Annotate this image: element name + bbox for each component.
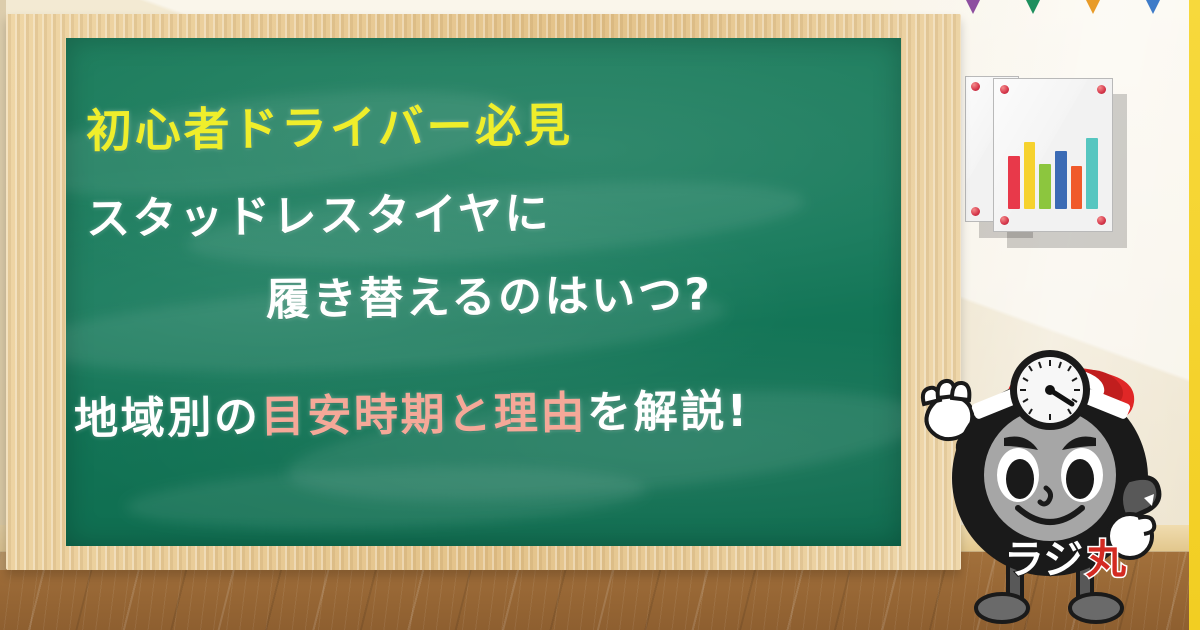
pin-icon xyxy=(1097,216,1106,225)
mascot-name-kanji: 丸 xyxy=(1085,537,1126,583)
thumbnail-canvas: 初心者ドライバー必見 スタッドレスタイヤに 履き替えるのはいつ? 地域別の目安時… xyxy=(0,0,1200,630)
mascot-name-kana: ラジ xyxy=(1004,537,1083,583)
subtitle-segment-suffix: を解説! xyxy=(587,386,750,439)
pin-icon xyxy=(1097,85,1106,94)
mascot-pressure-gauge-icon xyxy=(1010,350,1090,430)
bunting-decoration xyxy=(960,0,1200,16)
chart-bar xyxy=(1055,151,1067,209)
bunting-flag xyxy=(1086,0,1100,14)
bunting-flag xyxy=(1026,0,1040,14)
chart-bar xyxy=(1039,164,1051,209)
chart-bar xyxy=(1008,156,1020,209)
bunting-flag xyxy=(966,0,980,14)
pin-icon xyxy=(971,82,980,91)
title-line-2: 履き替えるのはいつ? xyxy=(66,254,901,331)
title-line-1: スタッドレスタイヤに xyxy=(66,173,901,247)
chalkboard-frame: 初心者ドライバー必見 スタッドレスタイヤに 履き替えるのはいつ? 地域別の目安時… xyxy=(6,14,961,570)
mascot-character: ラジ 丸 xyxy=(900,330,1200,630)
pin-icon xyxy=(1000,216,1009,225)
pin-icon xyxy=(971,207,980,216)
chart-bar xyxy=(1086,138,1098,209)
subtitle-segment-highlight: 目安時期と理由 xyxy=(260,388,587,443)
right-edge-strip xyxy=(1189,0,1200,630)
subtitle-line: 地域別の目安時期と理由を解説! xyxy=(66,373,901,447)
poster-front xyxy=(993,78,1113,232)
chart-bar xyxy=(1024,142,1036,209)
chart-bar xyxy=(1071,166,1083,209)
poster-bar-chart xyxy=(1008,123,1098,209)
pin-icon xyxy=(1000,85,1009,94)
chalkboard-surface: 初心者ドライバー必見 スタッドレスタイヤに 履き替えるのはいつ? 地域別の目安時… xyxy=(66,38,901,546)
headline-text: 初心者ドライバー必見 xyxy=(66,85,901,161)
bunting-flag xyxy=(1146,0,1160,14)
subtitle-segment-prefix: 地域別の xyxy=(74,392,261,445)
